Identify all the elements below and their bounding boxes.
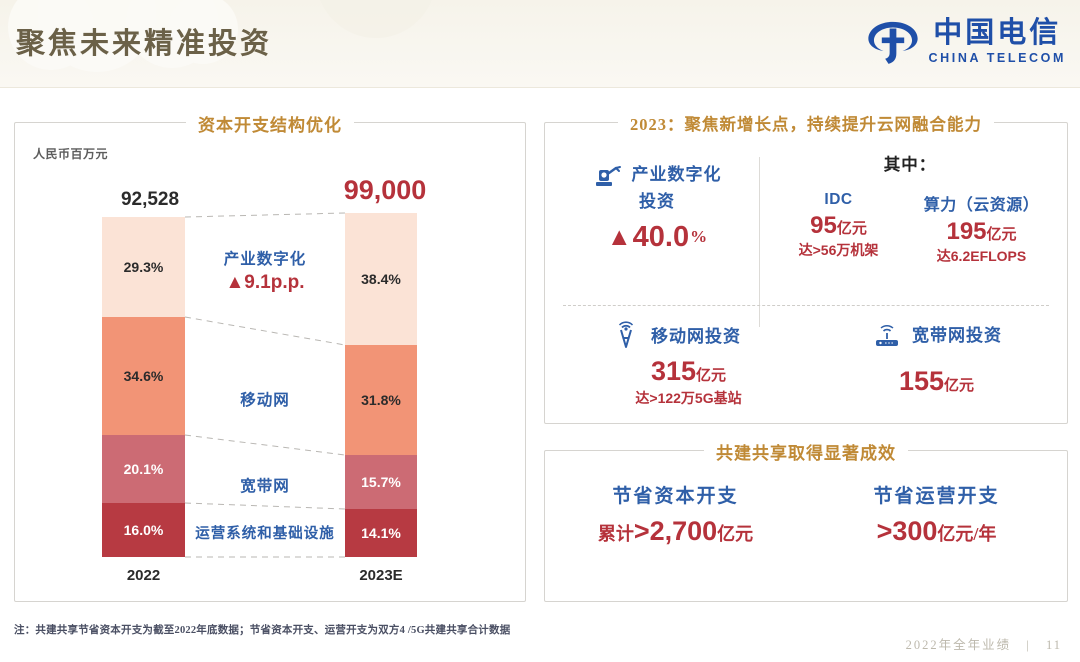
bar-segment-2023e-mobile: 31.8% [345,345,417,455]
bar-total-2023e: 99,000 [290,175,480,206]
capex-savings-block: 节省资本开支 累计>2,700亿元 [545,481,806,547]
bar-segment-2022-industry: 29.3% [102,217,185,317]
capex-savings-value: 累计>2,700亿元 [545,516,806,547]
savings-row: 节省资本开支 累计>2,700亿元 节省运营开支 >300亿元/年 [545,481,1067,547]
segment-value: 20.1% [124,461,164,477]
vertical-divider [759,157,760,327]
segment-value: 31.8% [361,392,401,408]
slide: 聚焦未来精准投资 中国电信 CHINA TELECOM 资本开支结构优化 人民币… [0,0,1080,662]
logo-english: CHINA TELECOM [929,52,1067,65]
segment-value: 16.0% [124,522,164,538]
right-top-panel-title: 2023：聚焦新增长点，持续提升云网融合能力 [618,111,994,135]
broadband-heading-row: 宽带网投资 [871,321,1002,351]
opex-savings-label: 节省运营开支 [806,481,1067,508]
industry-digitalization-block: 产业数字化 投资 ▲ 40.0 % [559,161,755,254]
capex-savings-number: >2,700 [634,516,717,546]
industry-growth-value: ▲ 40.0 % [559,222,755,254]
category-text: 移动网 [240,392,290,409]
computing-note: 达6.2EFLOPS [910,246,1053,266]
bar-segment-2023e-industry: 38.4% [345,213,417,345]
deck-name: 2022年全年业绩 [906,638,1012,652]
growth-unit: % [690,228,707,247]
mobile-network-block: 移动网投资 315亿元 达>122万5G基站 [545,321,806,408]
mobile-note: 达>122万5G基站 [635,388,741,408]
industry-heading-row: 产业数字化 [559,161,755,189]
capex-structure-panel: 资本开支结构优化 人民币百万元 92,528 99,000 29.3% 34.6… [14,122,526,602]
horizontal-dashed-divider [563,305,1049,306]
page-meta: 2022年全年业绩 | 11 [906,634,1062,653]
category-delta-industry: ▲9.1p.p. [195,272,335,294]
meta-separator: | [1026,638,1031,652]
footnote: 注：共建共享节省资本开支为截至2022年底数据；节省资本开支、运营开支为双方4 … [14,622,510,637]
opex-savings-unit: 亿元/年 [937,524,996,544]
idc-note: 达>56万机架 [767,240,910,260]
idc-number: 95 [810,212,837,239]
category-label-ops: 运营系统和基础设施 [181,522,349,543]
logo-wordmark: 中国电信 CHINA TELECOM [929,19,1067,65]
co-build-sharing-panel: 共建共享取得显著成效 节省资本开支 累计>2,700亿元 节省运营开支 >300… [544,450,1068,602]
header-divider [0,87,1080,88]
category-text: 宽带网 [240,478,290,495]
bar-2023e: 38.4% 31.8% 15.7% 14.1% [345,213,417,557]
among-block: 其中： IDC 95亿元 达>56万机架 算力（云资源） 195亿元 达6.2E… [767,151,1053,266]
among-item-idc: IDC 95亿元 达>56万机架 [767,191,910,266]
china-telecom-logo: 中国电信 CHINA TELECOM [865,12,1067,72]
opex-savings-number: >300 [877,516,938,546]
bar-segment-2022-ops: 16.0% [102,503,185,557]
segment-value: 29.3% [124,259,164,275]
category-text: 运营系统和基础设施 [195,526,335,542]
capex-savings-label: 节省资本开支 [545,481,806,508]
growth-focus-panel: 2023：聚焦新增长点，持续提升云网融合能力 产业数字化 投资 ▲ 40.0 % [544,122,1068,424]
china-telecom-mark-icon [865,16,921,68]
computing-unit: 亿元 [987,227,1017,243]
slide-header: 聚焦未来精准投资 中国电信 CHINA TELECOM [0,0,1080,88]
computing-value: 195亿元 [910,219,1053,245]
x-tick-2023e: 2023E [337,567,425,584]
broadband-network-block: 宽带网投资 155亿元 [806,321,1067,408]
opex-savings-value: >300亿元/年 [806,516,1067,547]
wifi-router-icon [871,321,903,351]
among-items: IDC 95亿元 达>56万机架 算力（云资源） 195亿元 达6.2EFLOP… [767,191,1053,266]
broadband-values: 155亿元 [899,363,974,398]
industry-label-line2: 投资 [559,191,755,214]
idc-value: 95亿元 [767,213,910,239]
opex-savings-block: 节省运营开支 >300亿元/年 [806,481,1067,547]
bar-total-2022: 92,528 [75,189,225,211]
broadband-label: 宽带网投资 [912,325,1002,348]
category-label-mobile: 移动网 [195,388,335,410]
bar-segment-2022-broadband: 20.1% [102,435,185,503]
stacked-bar-chart: 92,528 99,000 29.3% 34.6% 20.1% 16.0% [15,123,525,601]
capex-savings-unit: 亿元 [717,524,753,544]
mobile-unit: 亿元 [696,368,726,384]
industry-label-line1: 产业数字化 [632,164,722,187]
bar-segment-2022-mobile: 34.6% [102,317,185,435]
page-number: 11 [1046,638,1062,652]
bar-segment-2023e-ops: 14.1% [345,509,417,557]
idc-unit: 亿元 [837,221,867,237]
cell-tower-icon [610,321,642,353]
broadband-value: 155亿元 [899,367,974,397]
broadband-unit: 亿元 [944,378,974,394]
mobile-values: 315亿元 达>122万5G基站 [635,353,741,408]
bar-segment-2023e-broadband: 15.7% [345,455,417,509]
segment-value: 14.1% [361,525,401,541]
x-tick-2022: 2022 [102,567,185,584]
right-bottom-panel-title: 共建共享取得显著成效 [704,439,908,464]
robot-arm-icon [593,161,623,189]
segment-value: 34.6% [124,368,164,384]
bar-2022: 29.3% 34.6% 20.1% 16.0% [102,217,185,557]
segment-value: 15.7% [361,474,401,490]
page-title: 聚焦未来精准投资 [16,20,272,62]
category-text: 产业数字化 [224,251,307,268]
mobile-heading-row: 移动网投资 [610,321,741,353]
category-label-industry: 产业数字化 [195,247,335,269]
category-label-broadband: 宽带网 [195,474,335,496]
delta-text: ▲9.1p.p. [226,272,305,293]
among-item-computing: 算力（云资源） 195亿元 达6.2EFLOPS [910,191,1053,266]
computing-label: 算力（云资源） [910,191,1053,215]
capex-savings-prefix: 累计 [598,524,634,544]
growth-number: 40.0 [633,222,689,254]
computing-number: 195 [946,218,986,245]
cloud-decoration [316,0,436,38]
segment-value: 38.4% [361,271,401,287]
among-label: 其中： [767,151,1053,175]
mobile-value: 315亿元 [635,357,741,387]
mobile-number: 315 [651,356,696,386]
logo-chinese: 中国电信 [933,19,1061,48]
mobile-label: 移动网投资 [651,326,741,349]
up-triangle-icon: ▲ [607,225,632,250]
network-investment-row: 移动网投资 315亿元 达>122万5G基站 [545,321,1067,408]
idc-label: IDC [767,191,910,209]
broadband-number: 155 [899,366,944,396]
